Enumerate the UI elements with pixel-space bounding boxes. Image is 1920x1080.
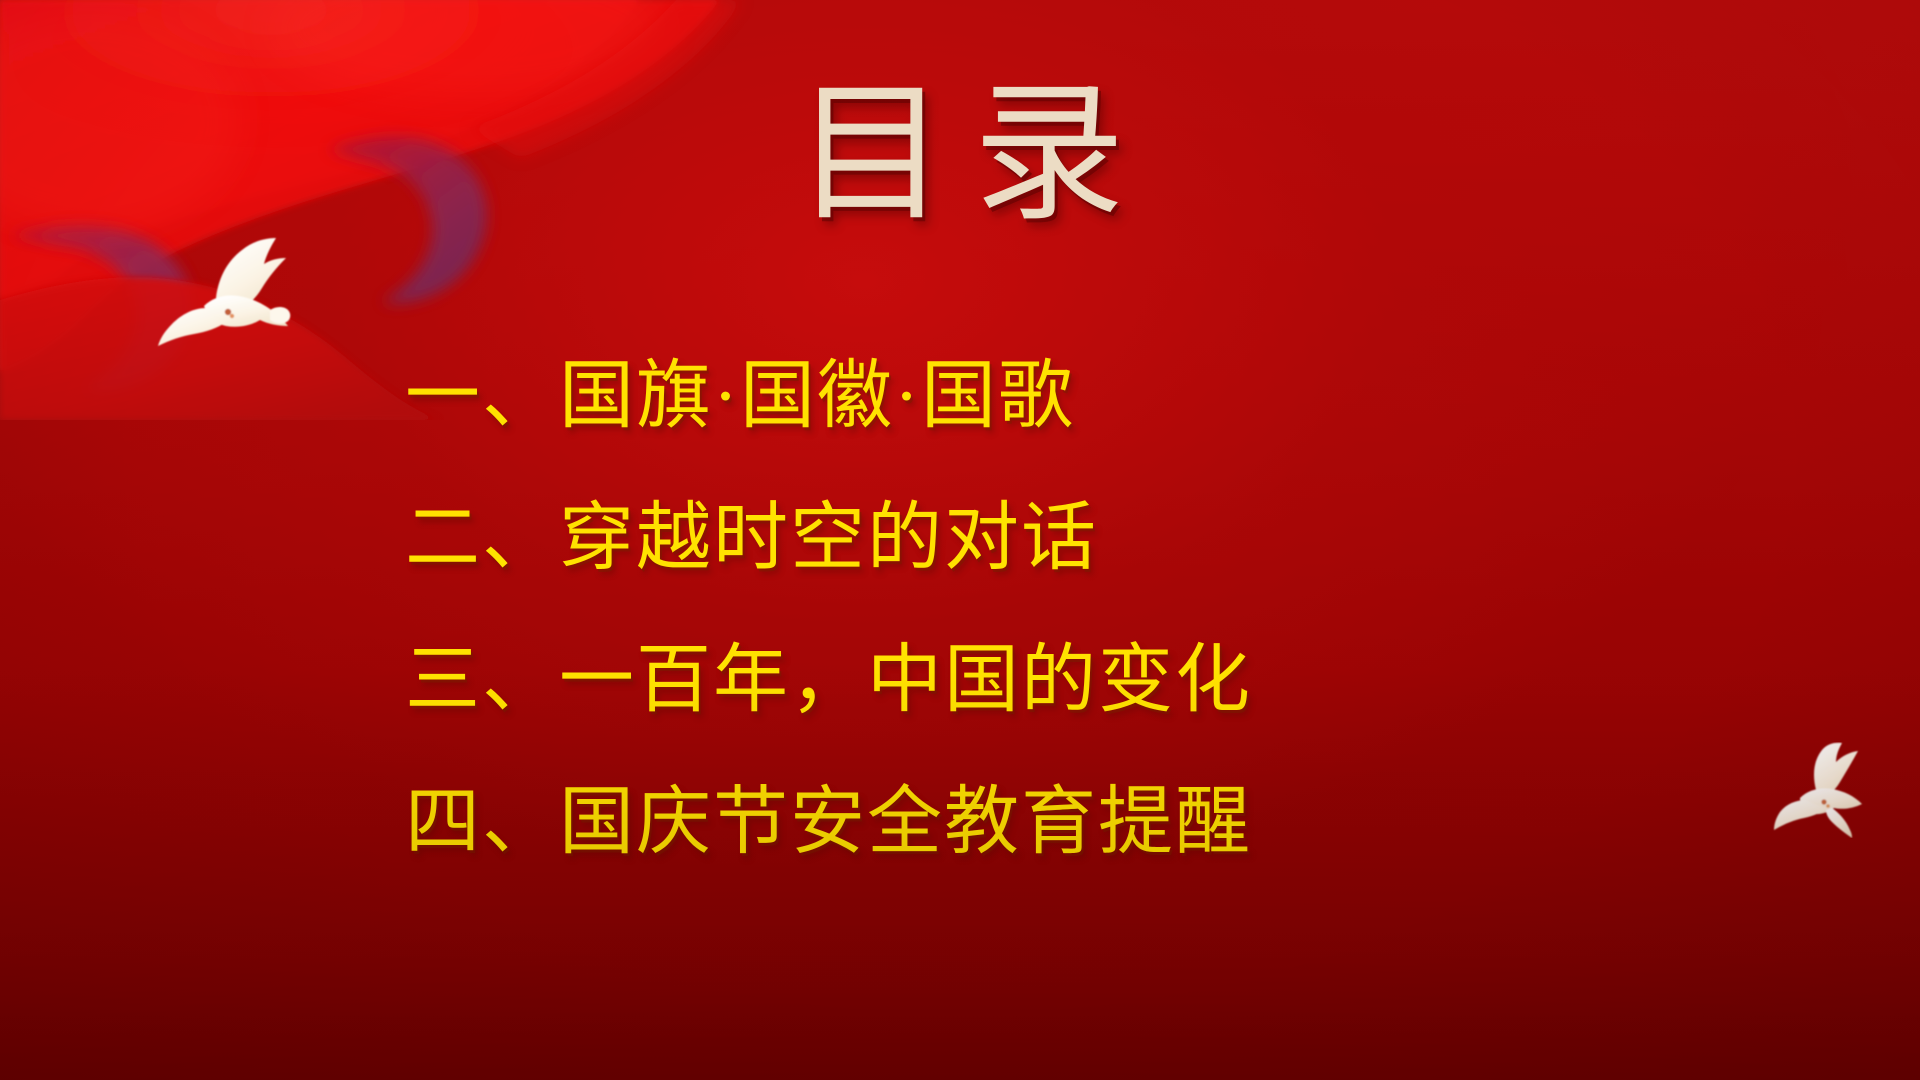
peace-dove-icon-left (152, 236, 292, 348)
peace-dove-icon-right (1772, 742, 1890, 838)
toc-item-2[interactable]: 二、穿越时空的对话 (405, 467, 1585, 609)
toc-item-1[interactable]: 一、国旗·国徽·国歌 (405, 325, 1585, 467)
table-of-contents-list: 一、国旗·国徽·国歌 二、穿越时空的对话 三、一百年，中国的变化 四、国庆节安全… (405, 325, 1585, 893)
slide-title: 目录 (0, 78, 1920, 233)
toc-item-4[interactable]: 四、国庆节安全教育提醒 (405, 751, 1585, 893)
toc-item-3[interactable]: 三、一百年，中国的变化 (405, 609, 1585, 751)
presentation-slide: 目录 一、国旗·国徽·国歌 二、穿越时空的对话 三、一百年，中国的变化 四、国庆… (0, 0, 1920, 1080)
